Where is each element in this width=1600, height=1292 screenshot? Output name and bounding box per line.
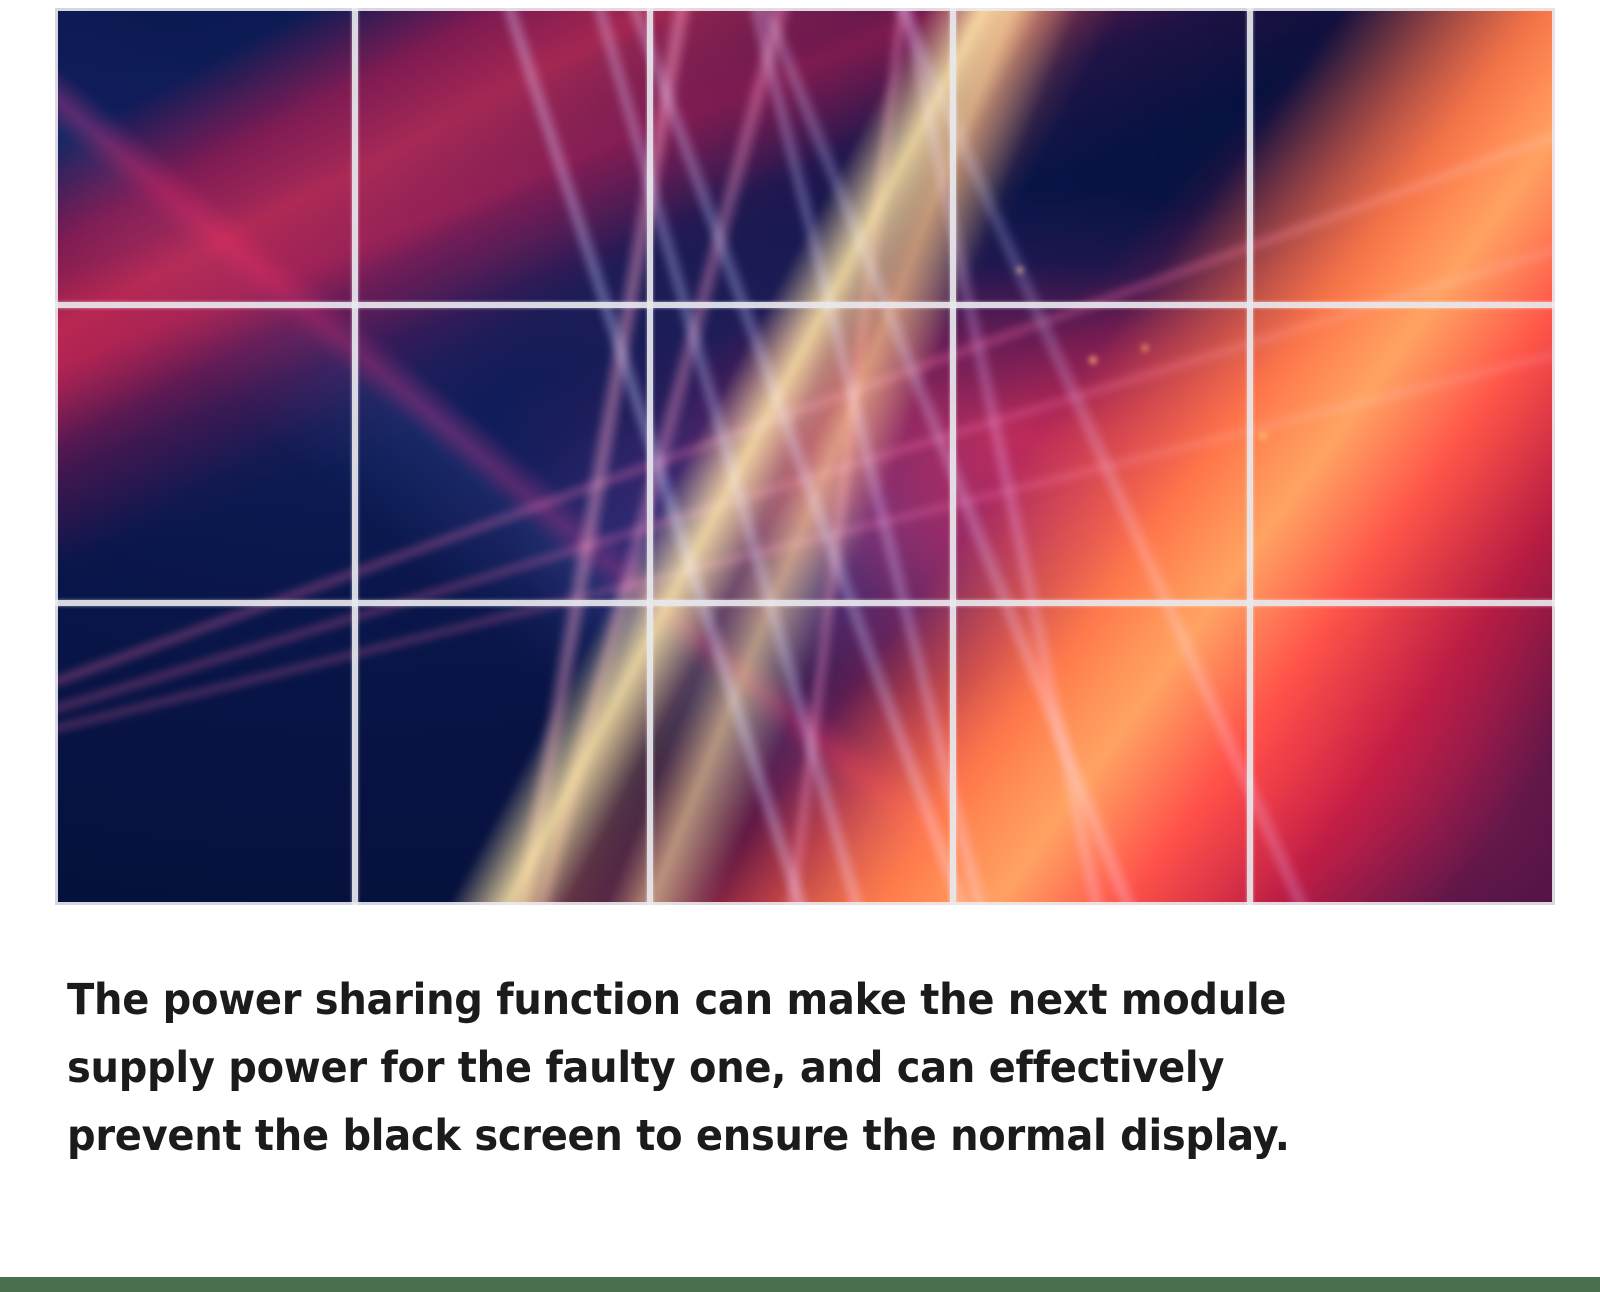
page-root: The power sharing function can make the … (0, 0, 1600, 1292)
footer-accent-bar (0, 1277, 1600, 1292)
caption-line-1: The power sharing function can make the … (67, 966, 1425, 1034)
caption-line-3: prevent the black screen to ensure the n… (67, 1102, 1425, 1170)
photo-bristle-detail (55, 8, 1555, 905)
caption-block: The power sharing function can make the … (67, 966, 1425, 1170)
led-wall-image (55, 8, 1555, 905)
caption-line-2: supply power for the faulty one, and can… (67, 1034, 1425, 1102)
